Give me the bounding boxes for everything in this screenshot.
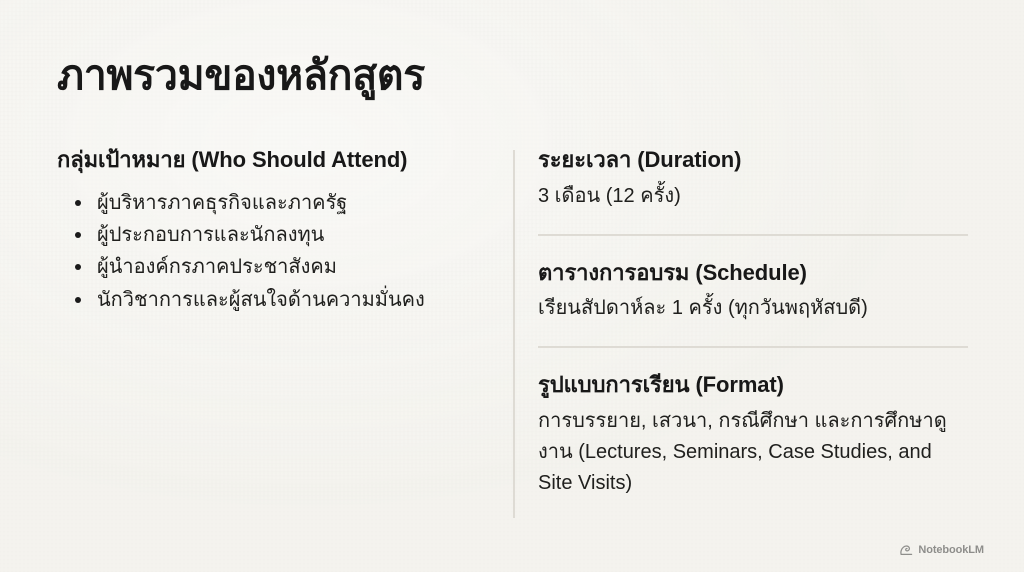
watermark-label: NotebookLM xyxy=(918,544,984,556)
bullet-dot-icon xyxy=(75,232,81,238)
bullet-dot-icon xyxy=(75,200,81,206)
duration-heading: ระยะเวลา (Duration) xyxy=(538,145,970,175)
schedule-text: เรียนสัปดาห์ละ 1 ครั้ง (ทุกวันพฤหัสบดี) xyxy=(538,293,970,324)
duration-text: 3 เดือน (12 ครั้ง) xyxy=(538,181,970,212)
left-column: กลุ่มเป้าหมาย (Who Should Attend) ผู้บริ… xyxy=(57,145,487,316)
audience-list: ผู้บริหารภาคธุรกิจและภาครัฐ ผู้ประกอบการ… xyxy=(57,187,487,317)
format-text: การบรรยาย, เสวนา, กรณีศึกษา และการศึกษาด… xyxy=(538,406,970,499)
page-title: ภาพรวมของหลักสูตร xyxy=(57,50,425,101)
section-divider xyxy=(538,234,968,236)
format-block: รูปแบบการเรียน (Format) การบรรยาย, เสวนา… xyxy=(538,370,970,499)
format-heading: รูปแบบการเรียน (Format) xyxy=(538,370,970,400)
list-item-label: ผู้บริหารภาคธุรกิจและภาครัฐ xyxy=(97,192,347,214)
bullet-dot-icon xyxy=(75,297,81,303)
schedule-block: ตารางการอบรม (Schedule) เรียนสัปดาห์ละ 1… xyxy=(538,258,970,325)
bullet-dot-icon xyxy=(75,264,81,270)
slide-canvas: ภาพรวมของหลักสูตร กลุ่มเป้าหมาย (Who Sho… xyxy=(0,0,1024,572)
list-item-label: ผู้ประกอบการและนักลงทุน xyxy=(97,224,324,246)
list-item: ผู้บริหารภาคธุรกิจและภาครัฐ xyxy=(57,187,487,219)
list-item: นักวิชาการและผู้สนใจด้านความมั่นคง xyxy=(57,284,487,316)
column-divider xyxy=(513,150,515,518)
duration-block: ระยะเวลา (Duration) 3 เดือน (12 ครั้ง) xyxy=(538,145,970,212)
list-item-label: ผู้นำองค์กรภาคประชาสังคม xyxy=(97,256,337,278)
notebooklm-logo-icon xyxy=(900,545,913,556)
list-item-label: นักวิชาการและผู้สนใจด้านความมั่นคง xyxy=(97,289,425,311)
notebooklm-watermark: NotebookLM xyxy=(900,544,984,556)
schedule-heading: ตารางการอบรม (Schedule) xyxy=(538,258,970,288)
section-divider xyxy=(538,346,968,348)
list-item: ผู้ประกอบการและนักลงทุน xyxy=(57,219,487,251)
list-item: ผู้นำองค์กรภาคประชาสังคม xyxy=(57,251,487,283)
right-column: ระยะเวลา (Duration) 3 เดือน (12 ครั้ง) ต… xyxy=(538,145,970,499)
left-column-heading: กลุ่มเป้าหมาย (Who Should Attend) xyxy=(57,145,487,175)
